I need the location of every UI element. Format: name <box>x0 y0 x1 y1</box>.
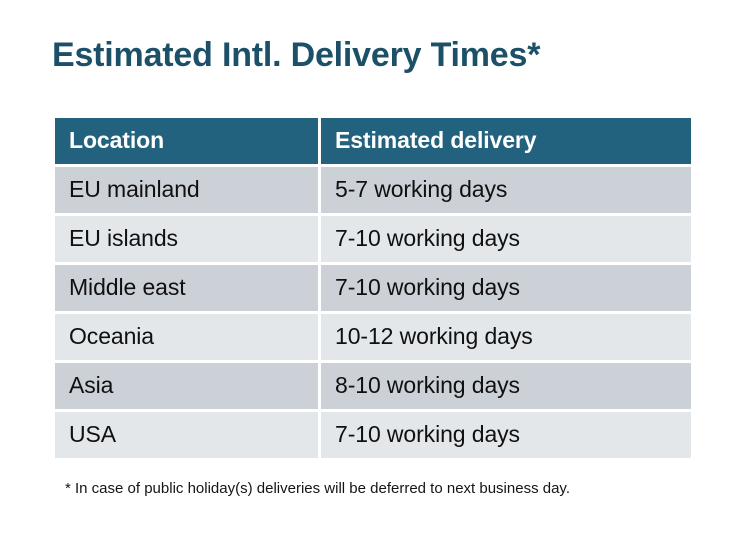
cell-location: EU mainland <box>55 167 318 213</box>
table-row: Oceania 10-12 working days <box>55 314 691 360</box>
cell-delivery: 7-10 working days <box>321 412 691 458</box>
column-header-location: Location <box>55 118 318 164</box>
page-title: Estimated Intl. Delivery Times* <box>52 36 540 75</box>
table-row: EU islands 7-10 working days <box>55 216 691 262</box>
cell-location: EU islands <box>55 216 318 262</box>
cell-delivery: 8-10 working days <box>321 363 691 409</box>
column-header-estimated-delivery: Estimated delivery <box>321 118 691 164</box>
table-row: USA 7-10 working days <box>55 412 691 458</box>
table-row: Asia 8-10 working days <box>55 363 691 409</box>
delivery-times-table: Location Estimated delivery EU mainland … <box>52 115 694 461</box>
cell-delivery: 10-12 working days <box>321 314 691 360</box>
table-body: EU mainland 5-7 working days EU islands … <box>55 167 691 458</box>
cell-location: USA <box>55 412 318 458</box>
table-row: Middle east 7-10 working days <box>55 265 691 311</box>
cell-delivery: 7-10 working days <box>321 265 691 311</box>
table-row: EU mainland 5-7 working days <box>55 167 691 213</box>
cell-delivery: 7-10 working days <box>321 216 691 262</box>
cell-location: Middle east <box>55 265 318 311</box>
table-header: Location Estimated delivery <box>55 118 691 164</box>
cell-location: Oceania <box>55 314 318 360</box>
footnote: * In case of public holiday(s) deliverie… <box>65 480 570 497</box>
table-header-row: Location Estimated delivery <box>55 118 691 164</box>
cell-delivery: 5-7 working days <box>321 167 691 213</box>
cell-location: Asia <box>55 363 318 409</box>
delivery-times-page: Estimated Intl. Delivery Times* Location… <box>0 0 745 536</box>
